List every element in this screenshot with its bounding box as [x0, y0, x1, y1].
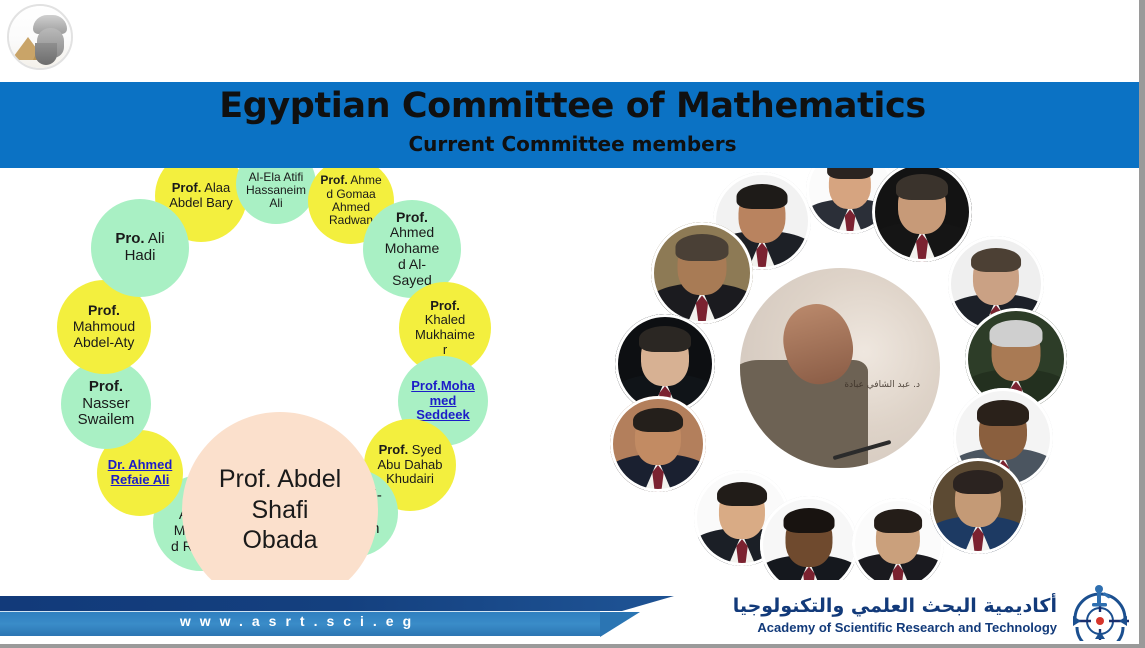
center-member-bubble: Prof. AbdelShafiObada — [182, 412, 378, 608]
member-name-line: Prof. — [401, 299, 489, 314]
member-name-line: Prof. Alaa — [157, 181, 245, 196]
member-name-line: Prof.Moha — [400, 379, 486, 394]
member-photo-photo-13 — [930, 458, 1026, 554]
member-name-line: Refaie Ali — [99, 473, 181, 488]
member-name-line: Mahmoud — [59, 319, 149, 335]
member-name-line: Hadi — [93, 248, 187, 265]
member-name-line: Prof. — [365, 210, 459, 226]
beard-shape — [35, 43, 57, 65]
organization-name-arabic: أكاديمية البحث العلمي والتكنولوجيا — [733, 595, 1057, 617]
member-name-line: Abdel Bary — [157, 196, 245, 211]
member-name-line: Khaled — [401, 313, 489, 328]
member-name-line: d Gomaa — [310, 188, 392, 201]
member-name-line: Abu Dahab — [366, 458, 454, 473]
top-strip — [0, 0, 1145, 82]
member-name-line: Prof. Ahme — [310, 174, 392, 187]
member-name-line: Nasser — [63, 396, 149, 413]
center-member-name: Prof. AbdelShafiObada — [219, 464, 341, 556]
member-name-line: Prof. — [63, 379, 149, 396]
member-name-line: Al-Ela Atifi — [238, 171, 314, 184]
member-name-line: Swailem — [63, 412, 149, 429]
member-name-line: Mohame — [365, 241, 459, 257]
member-name-line: Ali — [238, 197, 314, 210]
member-name-line: d Al- — [365, 257, 459, 273]
center-member-line: Prof. Abdel — [219, 465, 341, 493]
presentation-slide: Egyptian Committee of Mathematics Curren… — [0, 0, 1145, 648]
center-member-line: Obada — [242, 526, 317, 554]
photo-ring — [610, 396, 706, 492]
member-name-line: Pro. Ali — [93, 231, 187, 248]
member-photo-photo-8 — [610, 396, 706, 492]
scholar-portrait-icon — [33, 15, 67, 65]
member-name-line: Hassaneim — [238, 184, 314, 197]
page-subtitle: Current Committee members — [0, 132, 1145, 156]
chairman-center-photo: د. عبد الشافي عبادة — [740, 268, 940, 468]
center-member-line: Shafi — [252, 496, 309, 524]
member-name-line: Ahmed — [365, 225, 459, 241]
footer: www.asrt.sci.eg أكاديمية البحث العلمي وا… — [0, 580, 1145, 644]
scholar-pyramids-badge-icon — [7, 4, 73, 70]
member-name-line: Prof. — [59, 303, 149, 319]
member-name-line: Prof. Syed — [366, 443, 454, 458]
member-name-line: Abdel-Aty — [59, 335, 149, 351]
photo-ring — [930, 458, 1026, 554]
member-name-line: med — [400, 394, 486, 409]
member-photo-photo-4 — [651, 222, 753, 324]
website-url[interactable]: www.asrt.sci.eg — [0, 613, 600, 629]
member-name-line: Mukhaime — [401, 328, 489, 343]
footer-navy-band — [0, 596, 622, 611]
member-bubble-ali-hadi: Pro. AliHadi — [91, 199, 189, 297]
center-photo-caption: د. عبد الشافي عبادة — [844, 380, 920, 390]
header-band: Egyptian Committee of Mathematics Curren… — [0, 82, 1145, 168]
member-name-line: r — [401, 343, 489, 358]
member-name-line: Dr. Ahmed — [99, 458, 181, 473]
organization-name-english: Academy of Scientific Research and Techn… — [757, 620, 1057, 635]
page-title: Egyptian Committee of Mathematics — [0, 86, 1145, 126]
members-photo-collage: د. عبد الشافي عبادة — [600, 140, 1145, 600]
photo-ring — [651, 222, 753, 324]
asrt-compass-microscope-logo — [1061, 583, 1139, 641]
committee-bubble-diagram: Prof. AlaaAbdel BaryProf. AbuAl-Ela Atif… — [0, 140, 560, 600]
